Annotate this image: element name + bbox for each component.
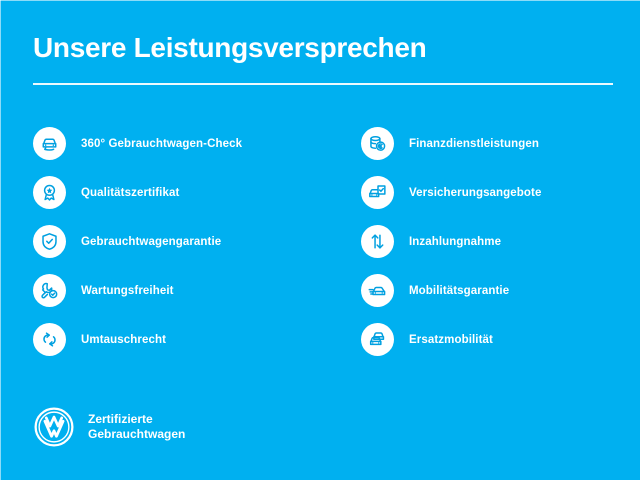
feature-item-versicherungsangebote: Versicherungsangebote: [361, 176, 640, 209]
feature-label: Gebrauchtwagengarantie: [81, 235, 221, 249]
frame-edge-top: [0, 0, 640, 1]
feature-item-finanzdienstleistungen: Finanzdienstleistungen: [361, 127, 640, 160]
car-motion-icon: [361, 274, 394, 307]
feature-label: Qualitätszertifikat: [81, 186, 179, 200]
feature-label: Umtauschrecht: [81, 333, 166, 347]
feature-label: Inzahlungnahme: [409, 235, 501, 249]
feature-item-umtauschrecht: Umtauschrecht: [33, 323, 323, 356]
feature-item-wartungsfreiheit: Wartungsfreiheit: [33, 274, 323, 307]
footer-brand-text: Zertifizierte Gebrauchtwagen: [88, 412, 185, 443]
feature-label: 360° Gebrauchtwagen-Check: [81, 137, 242, 151]
quality-seal-icon: [33, 176, 66, 209]
feature-column-right: Finanzdienstleistungen Versicherungsange…: [361, 127, 640, 356]
wrench-check-icon: [33, 274, 66, 307]
feature-label: Ersatzmobilität: [409, 333, 493, 347]
slide-root: Unsere Leistungsversprechen 360° Gebrauc…: [0, 0, 640, 480]
volkswagen-logo: [33, 406, 75, 448]
frame-edge-left: [0, 0, 1, 480]
car-360-check-icon: [33, 127, 66, 160]
two-cars-icon: [361, 323, 394, 356]
feature-item-mobilitaetsgarantie: Mobilitätsgarantie: [361, 274, 640, 307]
feature-label: Mobilitätsgarantie: [409, 284, 509, 298]
feature-item-inzahlungnahme: Inzahlungnahme: [361, 225, 640, 258]
footer-brand: Zertifizierte Gebrauchtwagen: [33, 406, 185, 448]
feature-item-ersatzmobilitaet: Ersatzmobilität: [361, 323, 640, 356]
feature-label: Versicherungsangebote: [409, 186, 541, 200]
feature-label: Finanzdienstleistungen: [409, 137, 539, 151]
coins-euro-icon: [361, 127, 394, 160]
feature-item-gebrauchtwagengarantie: Gebrauchtwagengarantie: [33, 225, 323, 258]
footer-line-2: Gebrauchtwagen: [88, 427, 185, 441]
exchange-arrows-icon: [33, 323, 66, 356]
footer-line-1: Zertifizierte: [88, 412, 153, 426]
feature-label: Wartungsfreiheit: [81, 284, 174, 298]
feature-item-gebrauchtwagen-check: 360° Gebrauchtwagen-Check: [33, 127, 323, 160]
shield-check-icon: [33, 225, 66, 258]
feature-column-left: 360° Gebrauchtwagen-Check Qualitätszerti…: [33, 127, 323, 356]
car-document-icon: [361, 176, 394, 209]
up-down-arrows-icon: [361, 225, 394, 258]
feature-item-qualitaetszertifikat: Qualitätszertifikat: [33, 176, 323, 209]
title-divider: [33, 83, 613, 85]
page-title: Unsere Leistungsversprechen: [33, 31, 426, 65]
